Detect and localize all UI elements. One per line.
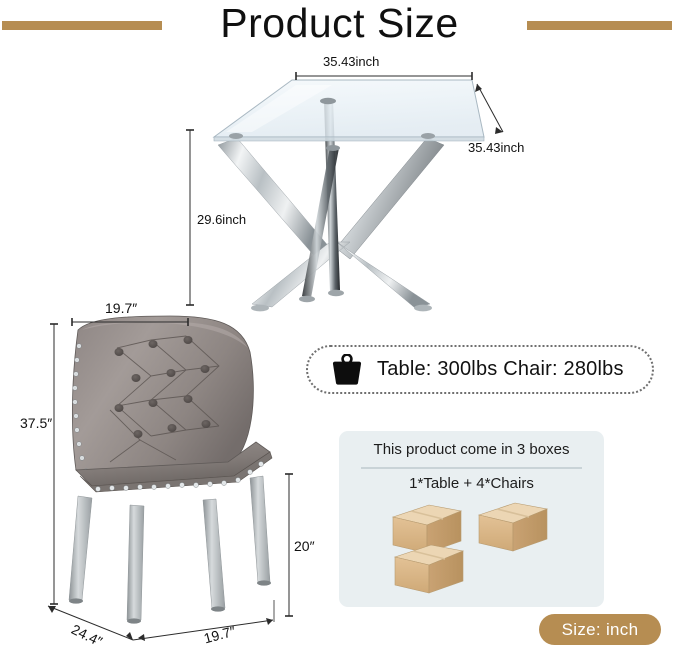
packaging-title: This product come in 3 boxes bbox=[339, 441, 604, 458]
packaging-contents: 1*Table + 4*Chairs bbox=[339, 475, 604, 492]
shipping-boxes-illustration bbox=[387, 499, 567, 599]
table-figure: 35.43inch 35.43inch 29.6inch bbox=[180, 52, 520, 317]
shipping-box bbox=[479, 503, 547, 551]
size-unit-badge: Size: inch bbox=[539, 614, 661, 645]
weight-icon bbox=[330, 354, 364, 386]
header: Product Size bbox=[0, 0, 679, 52]
packaging-divider bbox=[361, 467, 582, 469]
chair-illustration bbox=[20, 300, 320, 645]
weight-capacity-text: Table: 300lbs Chair: 280lbs bbox=[377, 358, 624, 381]
page-title: Product Size bbox=[0, 0, 679, 48]
table-illustration bbox=[180, 52, 520, 317]
shipping-box bbox=[393, 505, 461, 553]
chair-figure: 19.7″ 37.5″ 20″ 24.4″ 19.7″ bbox=[20, 300, 320, 640]
weight-capacity-callout: Table: 300lbs Chair: 280lbs bbox=[306, 345, 654, 394]
packaging-panel: This product come in 3 boxes 1*Table + 4… bbox=[339, 431, 604, 607]
shipping-box bbox=[395, 545, 463, 593]
